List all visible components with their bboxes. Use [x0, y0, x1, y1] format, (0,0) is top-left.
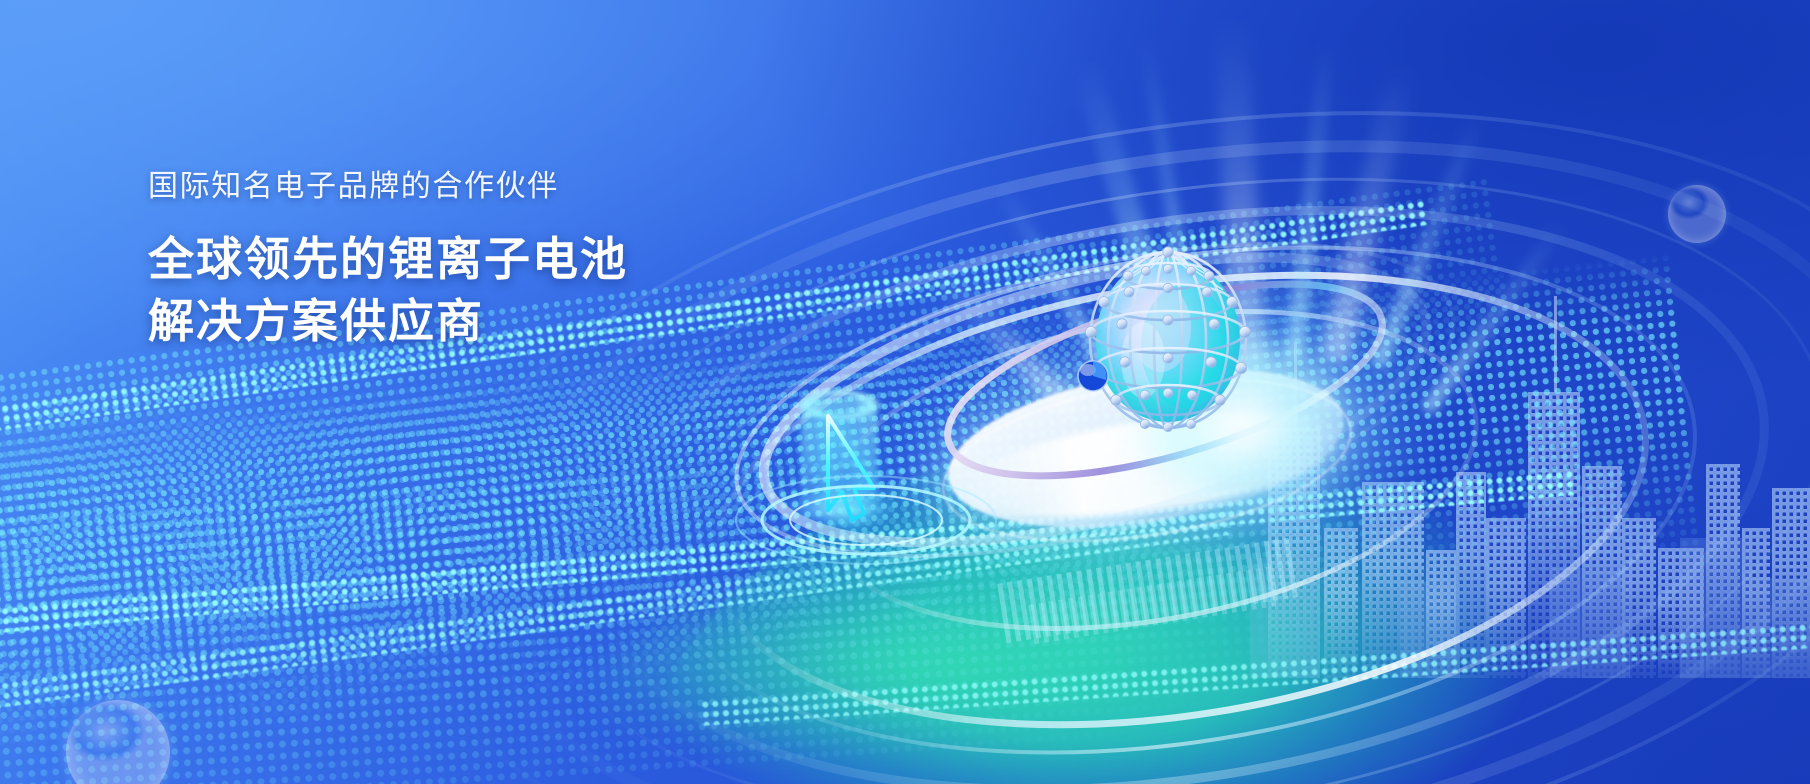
- accent-node: [1078, 361, 1108, 391]
- hero-eyebrow: 国际知名电子品牌的合作伙伴: [148, 168, 908, 206]
- hero-copy: 国际知名电子品牌的合作伙伴 全球领先的锂离子电池 解决方案供应商: [148, 168, 908, 353]
- beam-base-rings: [716, 452, 1016, 582]
- wireframe-globe: [1073, 228, 1263, 446]
- banner-root: 国际知名电子品牌的合作伙伴 全球领先的锂离子电池 解决方案供应商: [0, 0, 1810, 784]
- bubble: [1668, 185, 1726, 243]
- orbit-rings: [0, 0, 1810, 784]
- hero-headline: 全球领先的锂离子电池 解决方案供应商: [148, 228, 908, 353]
